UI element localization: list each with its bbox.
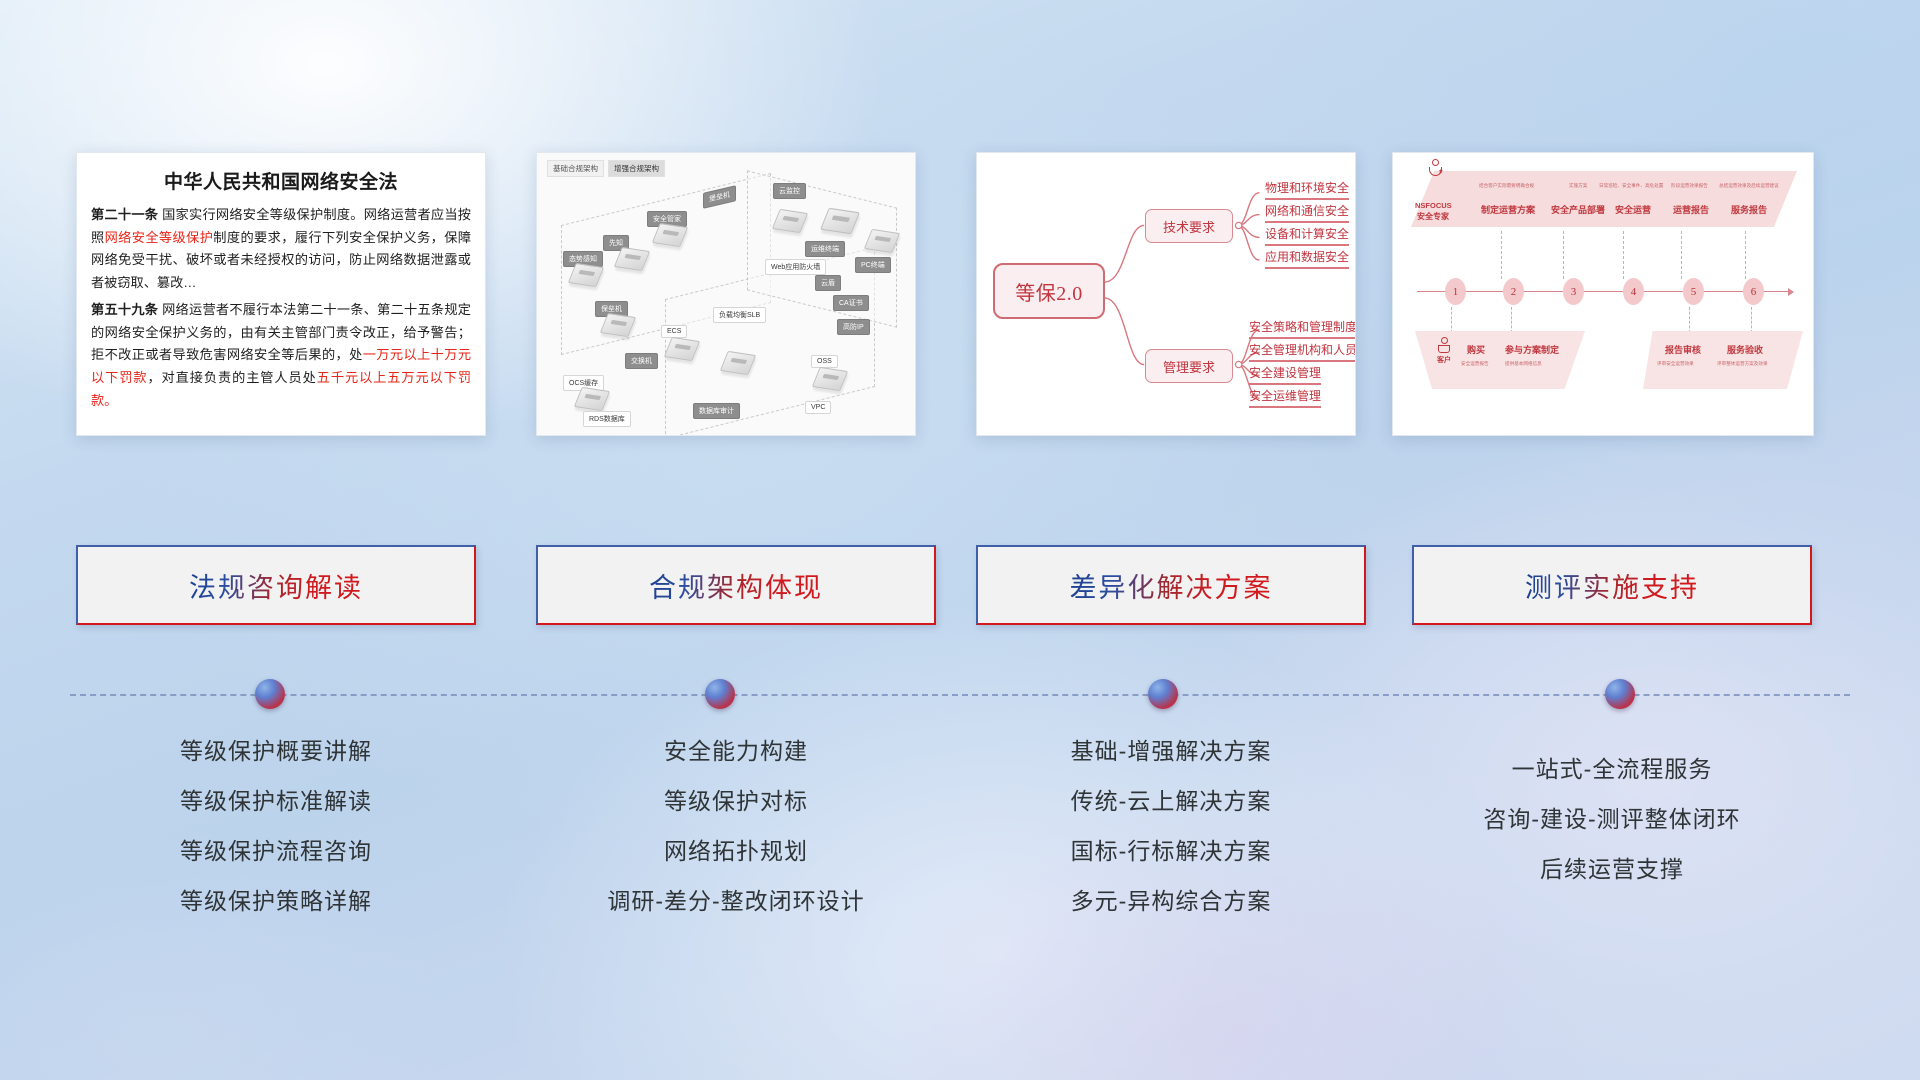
arch-node-switch: 交换机 [625,353,658,369]
arch-node-db-audit: 数据库审计 [693,403,740,419]
law-card: 中华人民共和国网络安全法 第二十一条 国家实行网络安全等级保护制度。网络运营者应… [76,152,486,436]
step-3-sub: 日常巡检、安全事件、高危处置 [1599,183,1663,189]
tick-cust-1 [1451,307,1452,333]
mindmap-card: 等保2.0 技术要求 管理要求 物理和环境安全 网络和通信安全 设备和计算安全 … [976,152,1356,436]
section-title-2: 合规架构体现 [649,566,823,605]
architecture-card: 基础合规架构 增强合规架构 堡垒机 安全管家 先知 态势感知 保垒机 ECS 交… [536,152,916,436]
timeline-marker-3 [1148,679,1178,709]
tab-basic-architecture[interactable]: 基础合规架构 [547,160,604,177]
mindmap-leaf-tech-3: 设备和计算安全 [1265,225,1349,246]
nsfocus-expert-role: 安全专家 [1417,211,1449,222]
section-items-1: 等级保护概要讲解 等级保护标准解读 等级保护流程咨询 等级保护策略详解 [76,740,476,940]
section-items-2: 安全能力构建 等级保护对标 网络拓扑规划 调研-差分-整改闭环设计 [536,740,936,940]
section-title-3: 差异化解决方案 [1070,566,1273,605]
section-2-item-4: 调研-差分-整改闭环设计 [536,890,936,913]
customer-label: 客户 [1431,355,1457,365]
customer-step-4-sub: 评审整体运营方案及效果 [1717,361,1768,367]
step-4-main: 运营报告 [1673,203,1709,216]
step-5-sub: 总结运营效果及后续运营建议 [1719,183,1779,189]
section-2-item-2: 等级保护对标 [536,790,936,813]
customer-step-1-sub: 安全运营报告 [1461,361,1489,367]
arch-node-oss: OSS [811,355,838,368]
section-title-1: 法规咨询解读 [189,566,363,605]
section-title-box-3[interactable]: 差异化解决方案 [976,545,1366,625]
timeline-dashed-line [70,694,1850,696]
customer-step-2-sub: 提供基本网络信息 [1505,361,1542,367]
mindmap-branch-technical: 技术要求 [1145,209,1233,243]
mindmap-leaf-tech-2: 网络和通信安全 [1265,202,1349,223]
timeline-node-2: 2 [1503,278,1524,305]
law-card-body: 第二十一条 国家实行网络安全等级保护制度。网络运营者应当按照网络安全等级保护制度… [77,204,485,412]
tick-5 [1745,231,1746,279]
tick-cust-2 [1511,307,1512,333]
timeline-node-4: 4 [1623,278,1644,305]
arch-node-vpc: VPC [805,401,831,414]
customer-step-4-main: 服务验收 [1727,343,1763,356]
section-1-item-2: 等级保护标准解读 [76,790,476,813]
section-1-item-3: 等级保护流程咨询 [76,840,476,863]
tick-3 [1623,231,1624,279]
law-article-59-label: 第五十九条 [91,302,158,317]
expert-person-icon: ★ [1423,159,1447,176]
timeline-node-1: 1 [1445,278,1466,305]
step-1-main: 制定运营方案 [1481,203,1535,216]
section-4-item-2: 咨询-建设-测评整体闭环 [1412,808,1812,831]
timeline-node-5: 5 [1683,278,1704,305]
section-2-item-1: 安全能力构建 [536,740,936,763]
arch-node-pc-terminal: PC终端 [855,257,891,273]
timeline-marker-1 [255,679,285,709]
arch-node-ecs: ECS [661,325,687,338]
law-article-21: 第二十一条 国家实行网络安全等级保护制度。网络运营者应当按照网络安全等级保护制度… [91,204,471,295]
section-2-item-3: 网络拓扑规划 [536,840,936,863]
timeline-marker-2 [705,679,735,709]
arch-node-rds: RDS数据库 [583,411,631,427]
timeline-marker-4 [1605,679,1635,709]
mindmap: 等保2.0 技术要求 管理要求 物理和环境安全 网络和通信安全 设备和计算安全 … [977,153,1355,435]
section-3-item-3: 国标-行标解决方案 [976,840,1366,863]
arch-node-slb: 负载均衡SLB [713,307,766,323]
section-title-box-1[interactable]: 法规咨询解读 [76,545,476,625]
step-4-sub: 阶段运营效果报告 [1671,183,1708,189]
step-2-sub: 实施方案 [1569,183,1587,189]
law-article-59-text-2: ，对直接负责的主管人员处 [147,370,316,385]
section-title-box-2[interactable]: 合规架构体现 [536,545,936,625]
section-3-item-1: 基础-增强解决方案 [976,740,1366,763]
law-article-59: 第五十九条 网络运营者不履行本法第二十一条、第二十五条规定的网络安全保护义务的，… [91,299,471,413]
mindmap-leaf-mgmt-2: 安全管理机构和人员 [1249,341,1356,362]
section-4-item-1: 一站式-全流程服务 [1412,758,1812,781]
arch-node-cloud-monitor: 云监控 [773,183,806,199]
customer-step-1-main: 购买 [1467,343,1485,356]
section-4-item-3: 后续运营支撑 [1412,858,1812,881]
timeline-axis [1417,291,1793,292]
tick-1 [1501,231,1502,279]
star-icon: ★ [1438,168,1443,175]
architecture-tabs: 基础合规架构 增强合规架构 [547,160,665,177]
section-title-box-4[interactable]: 测评实施支持 [1412,545,1812,625]
law-article-21-label: 第二十一条 [91,207,158,222]
law-article-21-highlight: 网络安全等级保护 [105,230,214,245]
section-1-item-4: 等级保护策略详解 [76,890,476,913]
tick-cust-3 [1689,307,1690,333]
nsfocus-timeline: ★ NSFOCUS 安全专家 结合客户实际需要明确合规 制定运营方案 实施方案 … [1393,153,1813,435]
mindmap-leaf-mgmt-1: 安全策略和管理制度 [1249,318,1356,339]
step-1-sub: 结合客户实际需要明确合规 [1479,183,1534,189]
timeline-node-3: 3 [1563,278,1584,305]
mindmap-root: 等保2.0 [993,263,1105,319]
tab-enhanced-architecture[interactable]: 增强合规架构 [608,160,665,177]
customer-step-2-main: 参与方案制定 [1505,343,1559,356]
customer-step-3-sub: 评审安全运营效果 [1657,361,1694,367]
section-3-item-2: 传统-云上解决方案 [976,790,1366,813]
section-1-item-1: 等级保护概要讲解 [76,740,476,763]
section-items-3: 基础-增强解决方案 传统-云上解决方案 国标-行标解决方案 多元-异构综合方案 [976,740,1366,940]
tick-4 [1681,231,1682,279]
arch-box-ocs-cache [574,387,610,411]
nsfocus-brand: NSFOCUS [1415,201,1452,210]
arch-node-ca-cert: CA证书 [833,295,869,311]
step-3-main: 安全运营 [1615,203,1651,216]
tick-2 [1563,231,1564,279]
mindmap-leaf-mgmt-3: 安全建设管理 [1249,364,1321,385]
step-5-main: 服务报告 [1731,203,1767,216]
customer-band-right [1643,331,1803,389]
architecture-diagram: 基础合规架构 增强合规架构 堡垒机 安全管家 先知 态势感知 保垒机 ECS 交… [537,153,915,435]
nsfocus-timeline-card: ★ NSFOCUS 安全专家 结合客户实际需要明确合规 制定运营方案 实施方案 … [1392,152,1814,436]
mindmap-leaf-tech-4: 应用和数据安全 [1265,248,1349,269]
customer-step-3-main: 报告审核 [1665,343,1701,356]
nsfocus-expert-band [1411,171,1797,227]
arch-node-anti-ddos: 高防IP [837,319,870,335]
mindmap-branch-management: 管理要求 [1145,349,1233,383]
tick-cust-4 [1751,307,1752,333]
customer-person-icon: 客户 [1431,337,1457,365]
step-2-main: 安全产品部署 [1551,203,1605,216]
section-items-4: 一站式-全流程服务 咨询-建设-测评整体闭环 后续运营支撑 [1412,758,1812,908]
mindmap-leaf-tech-1: 物理和环境安全 [1265,179,1349,200]
section-3-item-4: 多元-异构综合方案 [976,890,1366,913]
arch-node-ops-terminal: 运维终端 [805,241,845,257]
timeline-node-6: 6 [1743,278,1764,305]
section-title-4: 测评实施支持 [1525,566,1699,605]
law-card-title: 中华人民共和国网络安全法 [77,153,485,204]
arch-node-cloud-shield: 云盾 [815,275,841,291]
mindmap-leaf-mgmt-4: 安全运维管理 [1249,387,1321,408]
arch-node-waf: Web应用防火墙 [765,259,826,275]
cards-row: 中华人民共和国网络安全法 第二十一条 国家实行网络安全等级保护制度。网络运营者应… [0,152,1920,442]
